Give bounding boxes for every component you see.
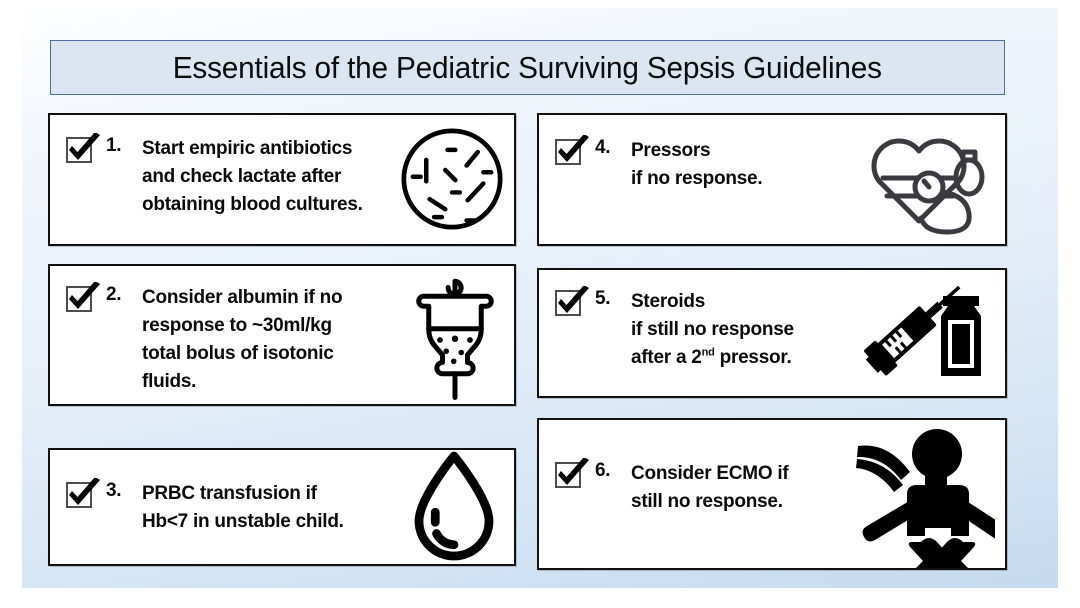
card-text: Pressors if no response. <box>631 137 762 193</box>
checkbox-checked-icon[interactable] <box>553 458 593 492</box>
guideline-card-3: 3. PRBC transfusion if Hb<7 in unstable … <box>48 448 516 566</box>
checkbox-checked-icon[interactable] <box>64 282 104 316</box>
page-title: Essentials of the Pediatric Surviving Se… <box>173 50 882 86</box>
syringe-vial-icon <box>859 270 999 395</box>
iv-drip-chamber-icon <box>410 270 500 400</box>
card-text-superscript: nd <box>702 347 715 359</box>
card-text: PRBC transfusion if Hb<7 in unstable chi… <box>142 480 344 536</box>
card-number: 6. <box>595 460 610 482</box>
heart-blood-pressure-cuff-icon <box>857 123 997 238</box>
card-number: 2. <box>106 284 121 306</box>
card-text-post: pressor. <box>715 347 792 368</box>
petri-dish-bacteria-icon <box>396 123 508 235</box>
checkbox-checked-icon[interactable] <box>553 135 593 169</box>
guideline-card-5: 5. Steroids if still no response after a… <box>537 268 1007 398</box>
guideline-card-6: 6. Consider ECMO if still no response. <box>537 418 1007 570</box>
guideline-card-4: 4. Pressors if no response. <box>537 113 1007 246</box>
checkbox-checked-icon[interactable] <box>64 133 104 167</box>
blood-drop-icon <box>404 448 504 566</box>
guideline-card-2: 2. Consider albumin if no response to ~3… <box>48 264 516 406</box>
card-text: Consider albumin if no response to ~30ml… <box>142 284 342 396</box>
checkbox-checked-icon[interactable] <box>64 478 104 512</box>
card-number: 3. <box>106 480 121 502</box>
guideline-card-1: 1. Start empiric antibiotics and check l… <box>48 113 516 246</box>
checkbox-checked-icon[interactable] <box>553 286 593 320</box>
card-text: Start empiric antibiotics and check lact… <box>142 135 363 219</box>
slide-root: Essentials of the Pediatric Surviving Se… <box>0 0 1080 608</box>
baby-ecmo-icon <box>845 422 995 570</box>
title-bar: Essentials of the Pediatric Surviving Se… <box>50 40 1005 95</box>
card-number: 4. <box>595 137 610 159</box>
card-text: Steroids if still no response after a 2n… <box>631 288 794 372</box>
card-number: 5. <box>595 288 610 310</box>
card-number: 1. <box>106 135 121 157</box>
card-text: Consider ECMO if still no response. <box>631 460 789 516</box>
